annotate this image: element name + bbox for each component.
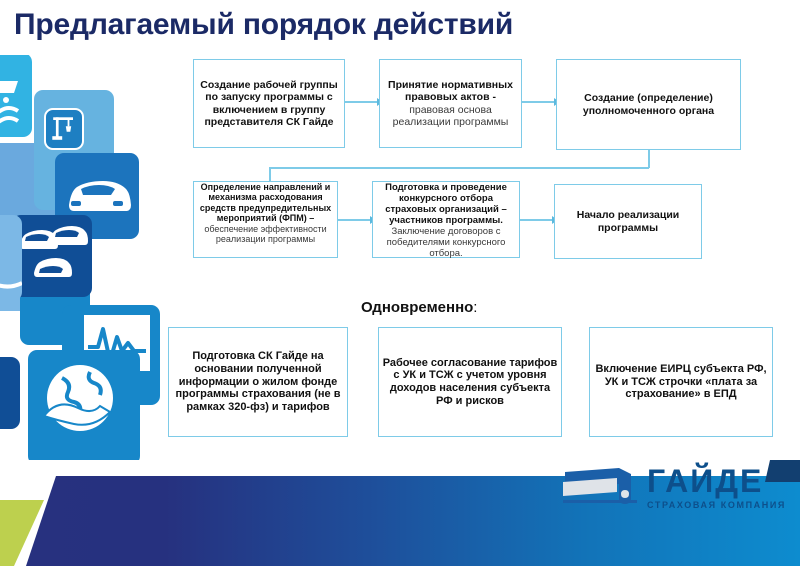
simultaneous-text: Одновременно <box>361 299 473 316</box>
logo-company-name: ГАЙДЕ <box>647 465 763 497</box>
logo-book-icon <box>561 464 639 510</box>
flow-box-adopt-legal-acts[interactable]: Принятие нормативных правовых актов - пр… <box>379 59 522 148</box>
box-sub-text: правовая основа реализации программы <box>393 104 509 128</box>
simultaneous-label: Одновременно: <box>361 299 477 316</box>
flow-box-create-working-group[interactable]: Создание рабочей группы по запуску прогр… <box>193 59 345 148</box>
box-sub-text: обеспечение эффективности реализации про… <box>204 224 326 244</box>
logo-tagline: СТРАХОВАЯ КОМПАНИЯ <box>647 500 786 510</box>
box-bold-text: Подготовка и проведение конкурсного отбо… <box>385 182 507 226</box>
connector-r2-b2-b3 <box>520 219 554 221</box>
connector-r1-b1-b2 <box>345 101 379 103</box>
box-bold-text: Создание (определение) уполномоченного о… <box>583 92 714 116</box>
ship-icon <box>0 55 32 137</box>
decorative-icon-collage <box>0 55 175 460</box>
flow-box-tariff-coordination[interactable]: Рабочее согласование тарифов с УК и ТСЖ … <box>378 327 562 437</box>
connector-r2-b1-b2 <box>338 219 372 221</box>
simultaneous-colon: : <box>473 299 477 316</box>
flow-box-eirc-inclusion[interactable]: Включение ЕИРЦ субъекта РФ, УК и ТСЖ стр… <box>589 327 773 437</box>
slide-canvas: Предлагаемый порядок действий <box>0 0 800 566</box>
box-bold-text: Рабочее согласование тарифов с УК и ТСЖ … <box>383 357 558 407</box>
heart-icon <box>0 357 20 429</box>
box-bold-text: Включение ЕИРЦ субъекта РФ, УК и ТСЖ стр… <box>595 363 766 401</box>
flow-box-program-start[interactable]: Начало реализации программы <box>554 184 702 259</box>
bridge-icon <box>0 215 22 301</box>
connector-elbow-horizontal <box>269 167 649 169</box>
box-bold-text: Начало реализации программы <box>577 209 679 233</box>
box-dash: - <box>490 91 496 103</box>
globe-airplane-icon <box>28 350 140 460</box>
bottom-banner: ГАЙДЕ СТРАХОВАЯ КОМПАНИЯ <box>0 460 800 566</box>
logo-text-block: ГАЙДЕ СТРАХОВАЯ КОМПАНИЯ <box>647 465 786 510</box>
flow-box-gaide-preparation[interactable]: Подготовка СК Гайде на основании получен… <box>168 327 348 437</box>
box-bold-text: Создание рабочей группы по запуску прогр… <box>200 79 337 128</box>
crane-icon <box>44 108 84 150</box>
flow-box-define-directions-fpm[interactable]: Определение направлений и механизма расх… <box>193 181 338 258</box>
connector-elbow-drop <box>269 167 271 181</box>
cars-traffic-icon <box>12 215 92 297</box>
page-title: Предлагаемый порядок действий <box>14 8 634 42</box>
company-logo: ГАЙДЕ СТРАХОВАЯ КОМПАНИЯ <box>561 464 786 510</box>
flow-box-competitive-selection[interactable]: Подготовка и проведение конкурсного отбо… <box>372 181 520 258</box>
flow-box-create-authorized-body[interactable]: Создание (определение) уполномоченного о… <box>556 59 741 150</box>
box-sub-text: Заключение договоров с победителями конк… <box>387 226 506 259</box>
box-bold-text: Подготовка СК Гайде на основании получен… <box>176 350 341 413</box>
box-bold-text: Определение направлений и механизма расх… <box>200 182 331 223</box>
connector-elbow-vertical <box>648 150 650 168</box>
connector-r1-b2-b3 <box>522 101 556 103</box>
